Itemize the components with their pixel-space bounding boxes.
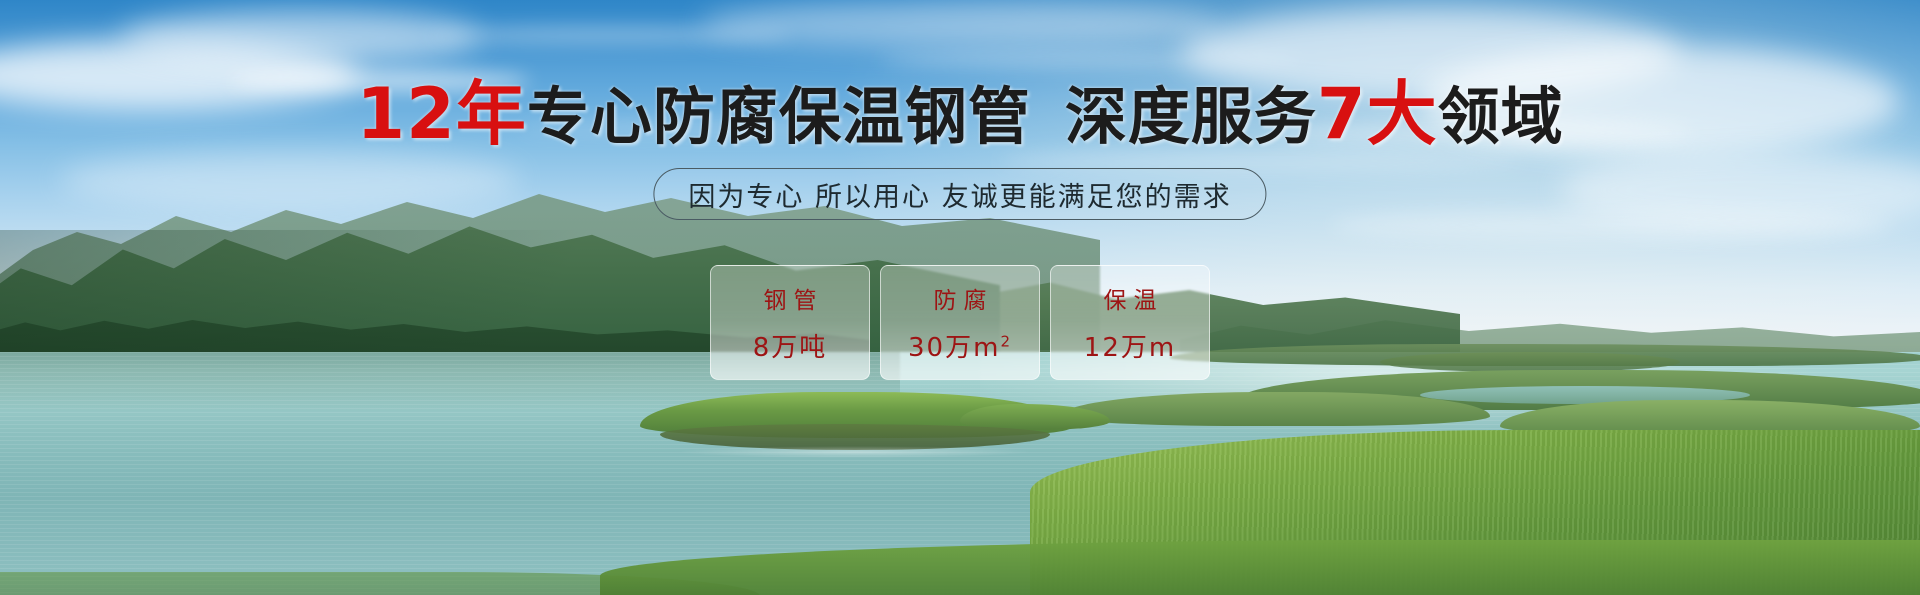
subtitle-text: 因为专心 所以用心 友诚更能满足您的需求	[688, 175, 1231, 214]
headline-fields-label: 领域	[1438, 80, 1564, 153]
stat-card-value-text: 30万m	[908, 333, 1000, 363]
stat-card-group: 钢管 8万吨 防腐 30万m2 保温 12万m	[710, 265, 1210, 380]
marsh-strip	[1380, 352, 1680, 372]
headline-main: 专心防腐保温钢管	[527, 80, 1031, 153]
headline-years-unit: 年	[456, 73, 527, 155]
promo-banner: 12年专心防腐保温钢管深度服务7大领域 因为专心 所以用心 友诚更能满足您的需求…	[0, 0, 1920, 595]
stat-card-value-sup: 2	[1000, 332, 1012, 350]
stat-card-value: 30万m2	[908, 327, 1012, 364]
subtitle-pill: 因为专心 所以用心 友诚更能满足您的需求	[653, 168, 1266, 220]
cloud-shape	[120, 10, 480, 64]
headline-fields-da: 大	[1367, 73, 1438, 155]
stat-card-title: 防腐	[927, 281, 994, 315]
stat-card-value-text: 12万m	[1084, 333, 1176, 363]
stat-card-anticorrosion: 防腐 30万m2	[880, 265, 1040, 380]
cloud-wisp	[1330, 210, 1890, 240]
stat-card-steel-pipe: 钢管 8万吨	[710, 265, 870, 380]
cloud-shape	[60, 150, 520, 210]
stat-card-title: 钢管	[757, 281, 824, 315]
stat-card-insulation: 保温 12万m	[1050, 265, 1210, 380]
stat-card-title: 保温	[1097, 281, 1164, 315]
headline-service: 深度服务	[1065, 80, 1317, 153]
island-ripple	[620, 444, 1090, 460]
headline-fields-number: 7	[1317, 73, 1367, 155]
headline: 12年专心防腐保温钢管深度服务7大领域	[0, 82, 1920, 149]
stat-card-value-text: 8万吨	[753, 333, 828, 363]
headline-years-number: 12	[356, 73, 455, 155]
stat-card-value: 8万吨	[753, 327, 828, 364]
cloud-shape	[700, 0, 1220, 48]
stat-card-value: 12万m	[1084, 327, 1176, 364]
